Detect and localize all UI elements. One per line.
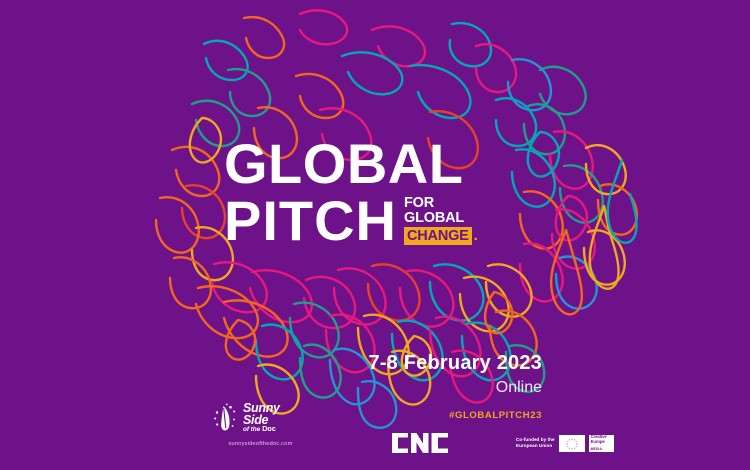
sunnyside-logo-row: Sunny Side of the Doc — [213, 402, 308, 434]
tagline-change-row: CHANGE . — [404, 227, 478, 245]
sunnyside-word-ofthe: of the — [243, 427, 260, 434]
eu-funded-label: Co-funded by the European Union — [516, 437, 555, 449]
sunnyside-sun-icon — [213, 403, 239, 433]
cnc-logo — [392, 433, 448, 453]
tagline-word-global: GLOBAL — [404, 211, 464, 226]
sunnyside-word-doc: Doc — [262, 425, 276, 433]
poster-title-block: GLOBAL PITCH FOR GLOBAL CHANGE . — [224, 138, 524, 247]
sunnyside-logo[interactable]: Sunny Side of the Doc sunnysideofthedoc.… — [213, 402, 308, 447]
eu-funding-block: Co-funded by the European Union — [516, 435, 614, 452]
creative-europe-media: MEDIA — [591, 447, 614, 451]
tagline-word-change-highlight: CHANGE — [404, 227, 472, 245]
event-date: 7-8 February 2023 — [282, 352, 542, 374]
title-pitch-row: PITCH FOR GLOBAL CHANGE . — [224, 195, 524, 248]
event-info-block: 7-8 February 2023 Online #GLOBALPITCH23 — [282, 352, 542, 421]
tagline-word-for: FOR — [404, 196, 434, 211]
creative-europe-line2: Europe — [591, 440, 614, 445]
title-line-global: GLOBAL — [224, 138, 524, 191]
title-line-pitch: PITCH — [224, 195, 397, 248]
poster-canvas: GLOBAL PITCH FOR GLOBAL CHANGE . 7-8 Feb… — [0, 0, 750, 470]
funder-logos: Co-funded by the European Union — [392, 433, 614, 453]
event-hashtag: #GLOBALPITCH23 — [282, 410, 542, 421]
eu-flag-icon — [559, 435, 585, 452]
tagline-period: . — [474, 227, 478, 244]
sunnyside-url[interactable]: sunnysideofthedoc.com — [213, 441, 308, 447]
sunnyside-word-ofthedoc: of the Doc — [243, 425, 280, 434]
tagline-block: FOR GLOBAL CHANGE . — [404, 196, 478, 245]
event-format: Online — [282, 378, 542, 397]
creative-europe-logo: Creative Europe MEDIA — [589, 435, 614, 452]
sunnyside-wordmark: Sunny Side of the Doc — [243, 402, 280, 434]
